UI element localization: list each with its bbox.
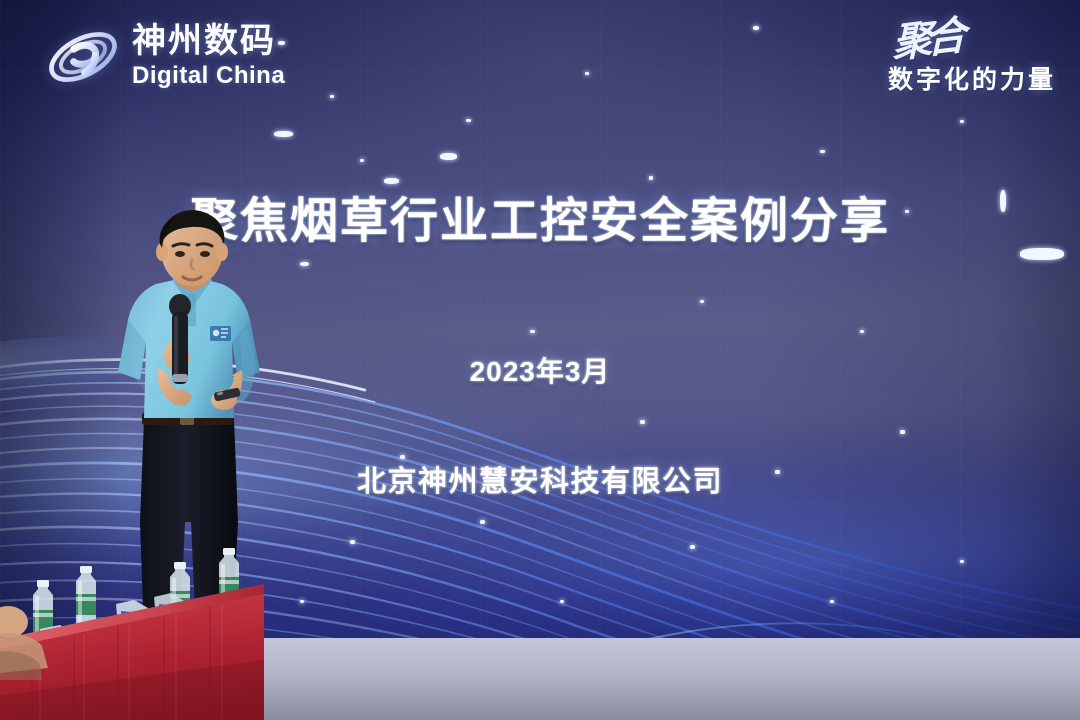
- digital-china-logo: 神州数码 Digital China: [44, 18, 285, 98]
- digital-china-wordmark: 神州数码 Digital China: [132, 24, 285, 92]
- seated-attendee: [0, 604, 76, 680]
- conference-stage-photo: 神州数码 Digital China 聚合 数字化的力量 聚焦烟草行业工控安全案…: [0, 0, 1080, 720]
- brand-name-cn: 神州数码: [132, 24, 285, 58]
- shirt-chest-logo-icon: [210, 326, 231, 341]
- brand-name-en: Digital China: [132, 64, 285, 88]
- microphone-icon: [169, 294, 191, 384]
- juhe-brand-lockup: 聚合 数字化的力量: [806, 16, 1056, 96]
- digital-china-swirl-logo-icon: [44, 18, 122, 98]
